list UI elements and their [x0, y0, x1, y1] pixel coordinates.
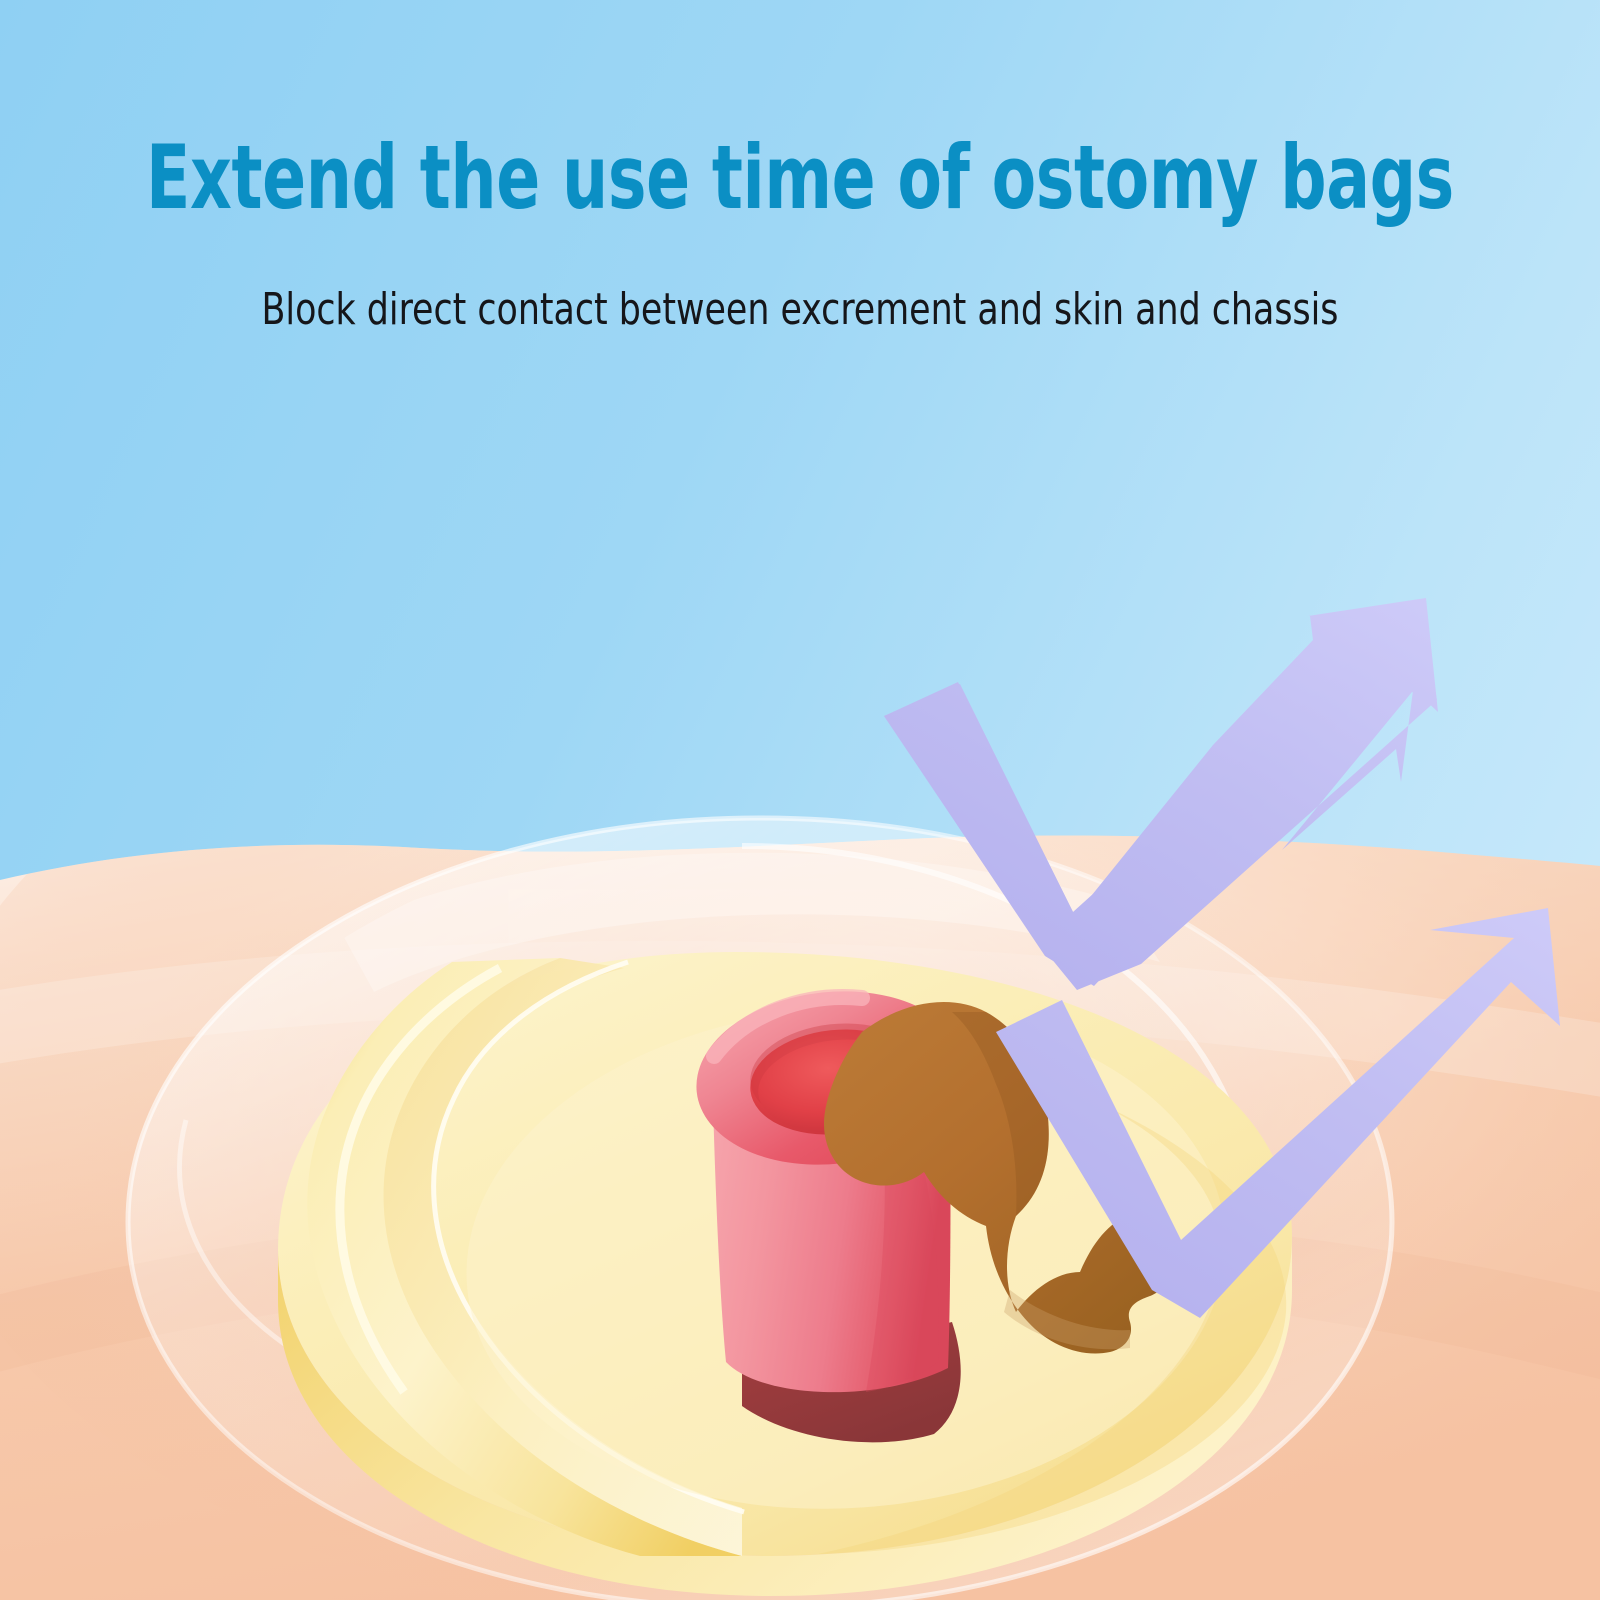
page-subtitle: Block direct contact between excrement a… — [96, 288, 1504, 332]
poster-canvas: Extend the use time of ostomy bags Block… — [0, 0, 1600, 1600]
page-title: Extend the use time of ostomy bags — [144, 134, 1456, 222]
deflection-arrows — [0, 0, 1600, 1600]
bounce-arrow-upper — [884, 598, 1438, 990]
